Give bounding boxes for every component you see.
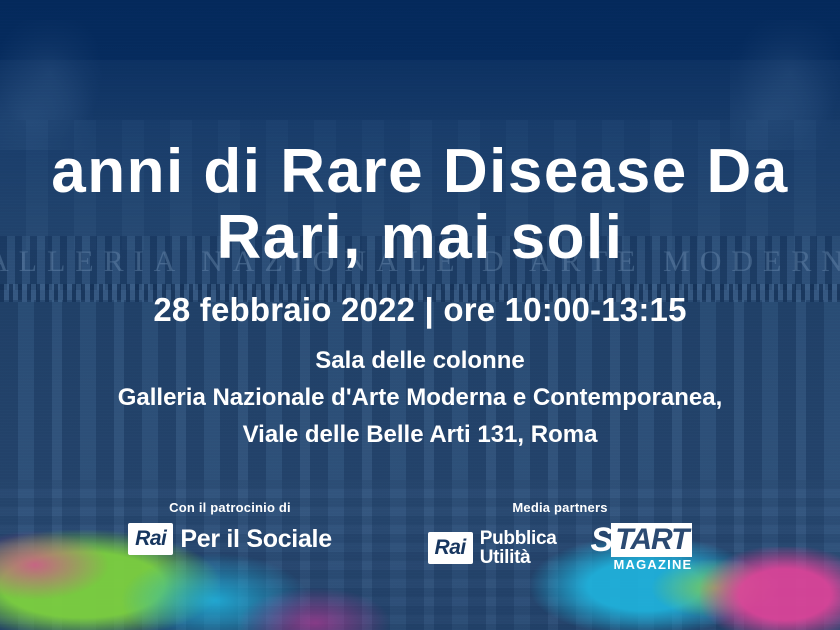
patronage-label: Con il patrocinio di — [110, 500, 350, 515]
headline-line-1: anni di Rare Disease Da — [0, 140, 840, 204]
headline-line-2: Rari, mai soli — [0, 206, 840, 270]
media-partners-logo-row: Rai Pubblica Utilità S TART MAGAZINE — [400, 523, 720, 572]
patronage-group: Con il patrocinio di Rai Per il Sociale — [110, 500, 350, 555]
venue-line-2: Galleria Nazionale d'Arte Moderna e Cont… — [0, 379, 840, 416]
wordmark-line-1: Pubblica — [480, 529, 557, 548]
start-magazine-logo[interactable]: S TART MAGAZINE — [591, 523, 693, 572]
venue-line-1: Sala delle colonne — [0, 342, 840, 379]
rai-pubblica-utilita-wordmark: Pubblica Utilità — [480, 529, 557, 567]
poster-content: anni di Rare Disease Da Rari, mai soli 2… — [0, 0, 840, 630]
patronage-logo-row: Rai Per il Sociale — [110, 523, 350, 555]
media-partners-group: Media partners Rai Pubblica Utilità S TA… — [400, 500, 720, 572]
start-letter-s: S — [591, 523, 612, 557]
start-wordmark: S TART — [591, 523, 693, 557]
rai-mark: Rai — [428, 532, 473, 564]
rai-wordmark: Per il Sociale — [180, 527, 331, 552]
rai-per-il-sociale-logo[interactable]: Rai Per il Sociale — [128, 523, 332, 555]
rai-pubblica-utilita-logo[interactable]: Rai Pubblica Utilità — [428, 529, 557, 567]
start-subtitle: MAGAZINE — [614, 558, 693, 572]
event-poster: GALLERIA NAZIONALE D'ARTE MODERNA anni d… — [0, 0, 840, 630]
wordmark-line-2: Utilità — [480, 548, 557, 567]
event-venue: Sala delle colonne Galleria Nazionale d'… — [0, 342, 840, 453]
start-tart-block: TART — [611, 523, 692, 557]
rai-mark: Rai — [128, 523, 173, 555]
logo-area: Con il patrocinio di Rai Per il Sociale … — [0, 500, 840, 590]
venue-line-3: Viale delle Belle Arti 131, Roma — [0, 416, 840, 453]
media-partners-label: Media partners — [400, 500, 720, 515]
event-date-time: 28 febbraio 2022 | ore 10:00-13:15 — [0, 291, 840, 329]
